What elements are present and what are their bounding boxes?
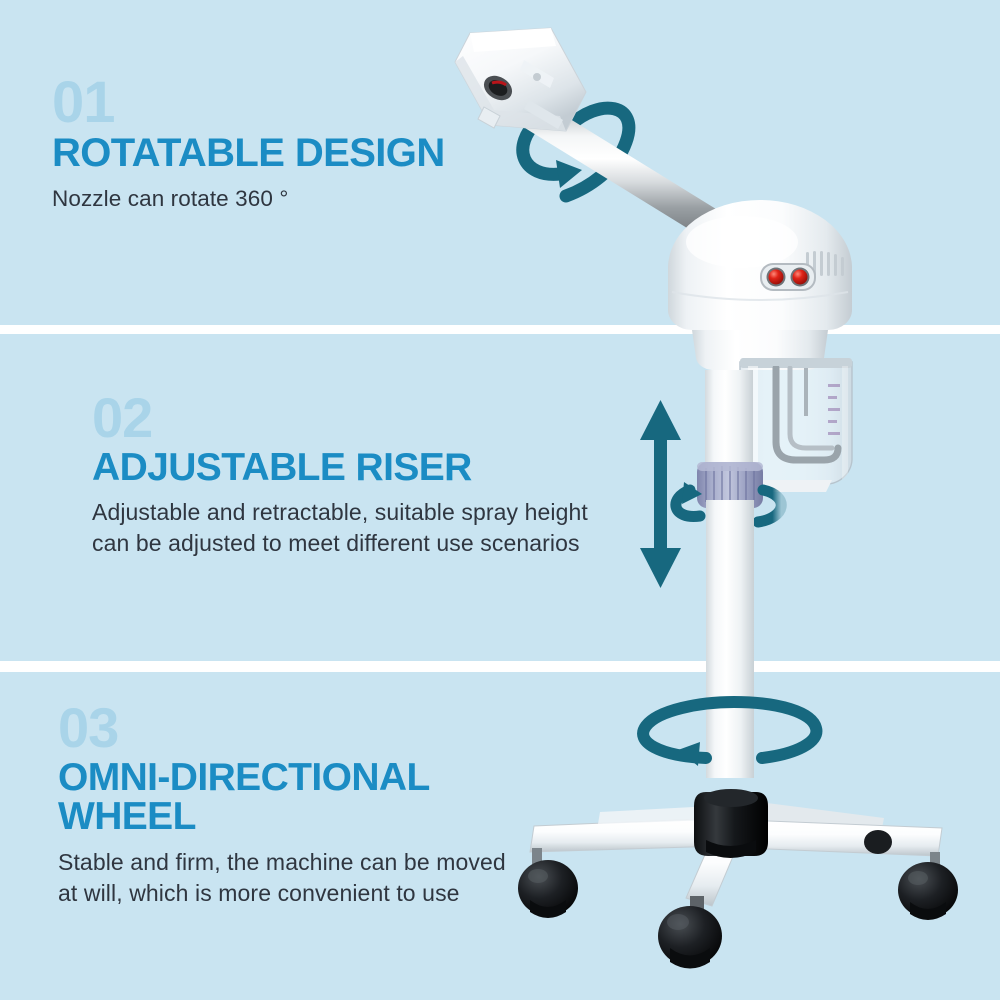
feature-number-3: 03 <box>58 702 528 754</box>
infographic-poster: 01 ROTATABLE DESIGN Nozzle can rotate 36… <box>0 0 1000 1000</box>
feature-number-2: 02 <box>92 392 612 444</box>
feature-title-1: ROTATABLE DESIGN <box>52 133 522 174</box>
feature-text-3: 03 OMNI-DIRECTIONAL WHEEL Stable and fir… <box>58 702 528 908</box>
feature-description-3: Stable and firm, the machine can be move… <box>58 847 528 908</box>
feature-title-2: ADJUSTABLE RISER <box>92 448 612 488</box>
feature-description-2: Adjustable and retractable, suitable spr… <box>92 497 612 558</box>
band-divider-2 <box>0 661 1000 672</box>
band-divider-1 <box>0 325 1000 334</box>
feature-description-1: Nozzle can rotate 360 ° <box>52 184 522 214</box>
feature-text-2: 02 ADJUSTABLE RISER Adjustable and retra… <box>92 392 612 558</box>
feature-title-3: OMNI-DIRECTIONAL WHEEL <box>58 758 498 838</box>
feature-text-1: 01 ROTATABLE DESIGN Nozzle can rotate 36… <box>52 76 522 214</box>
feature-number-1: 01 <box>52 76 522 129</box>
